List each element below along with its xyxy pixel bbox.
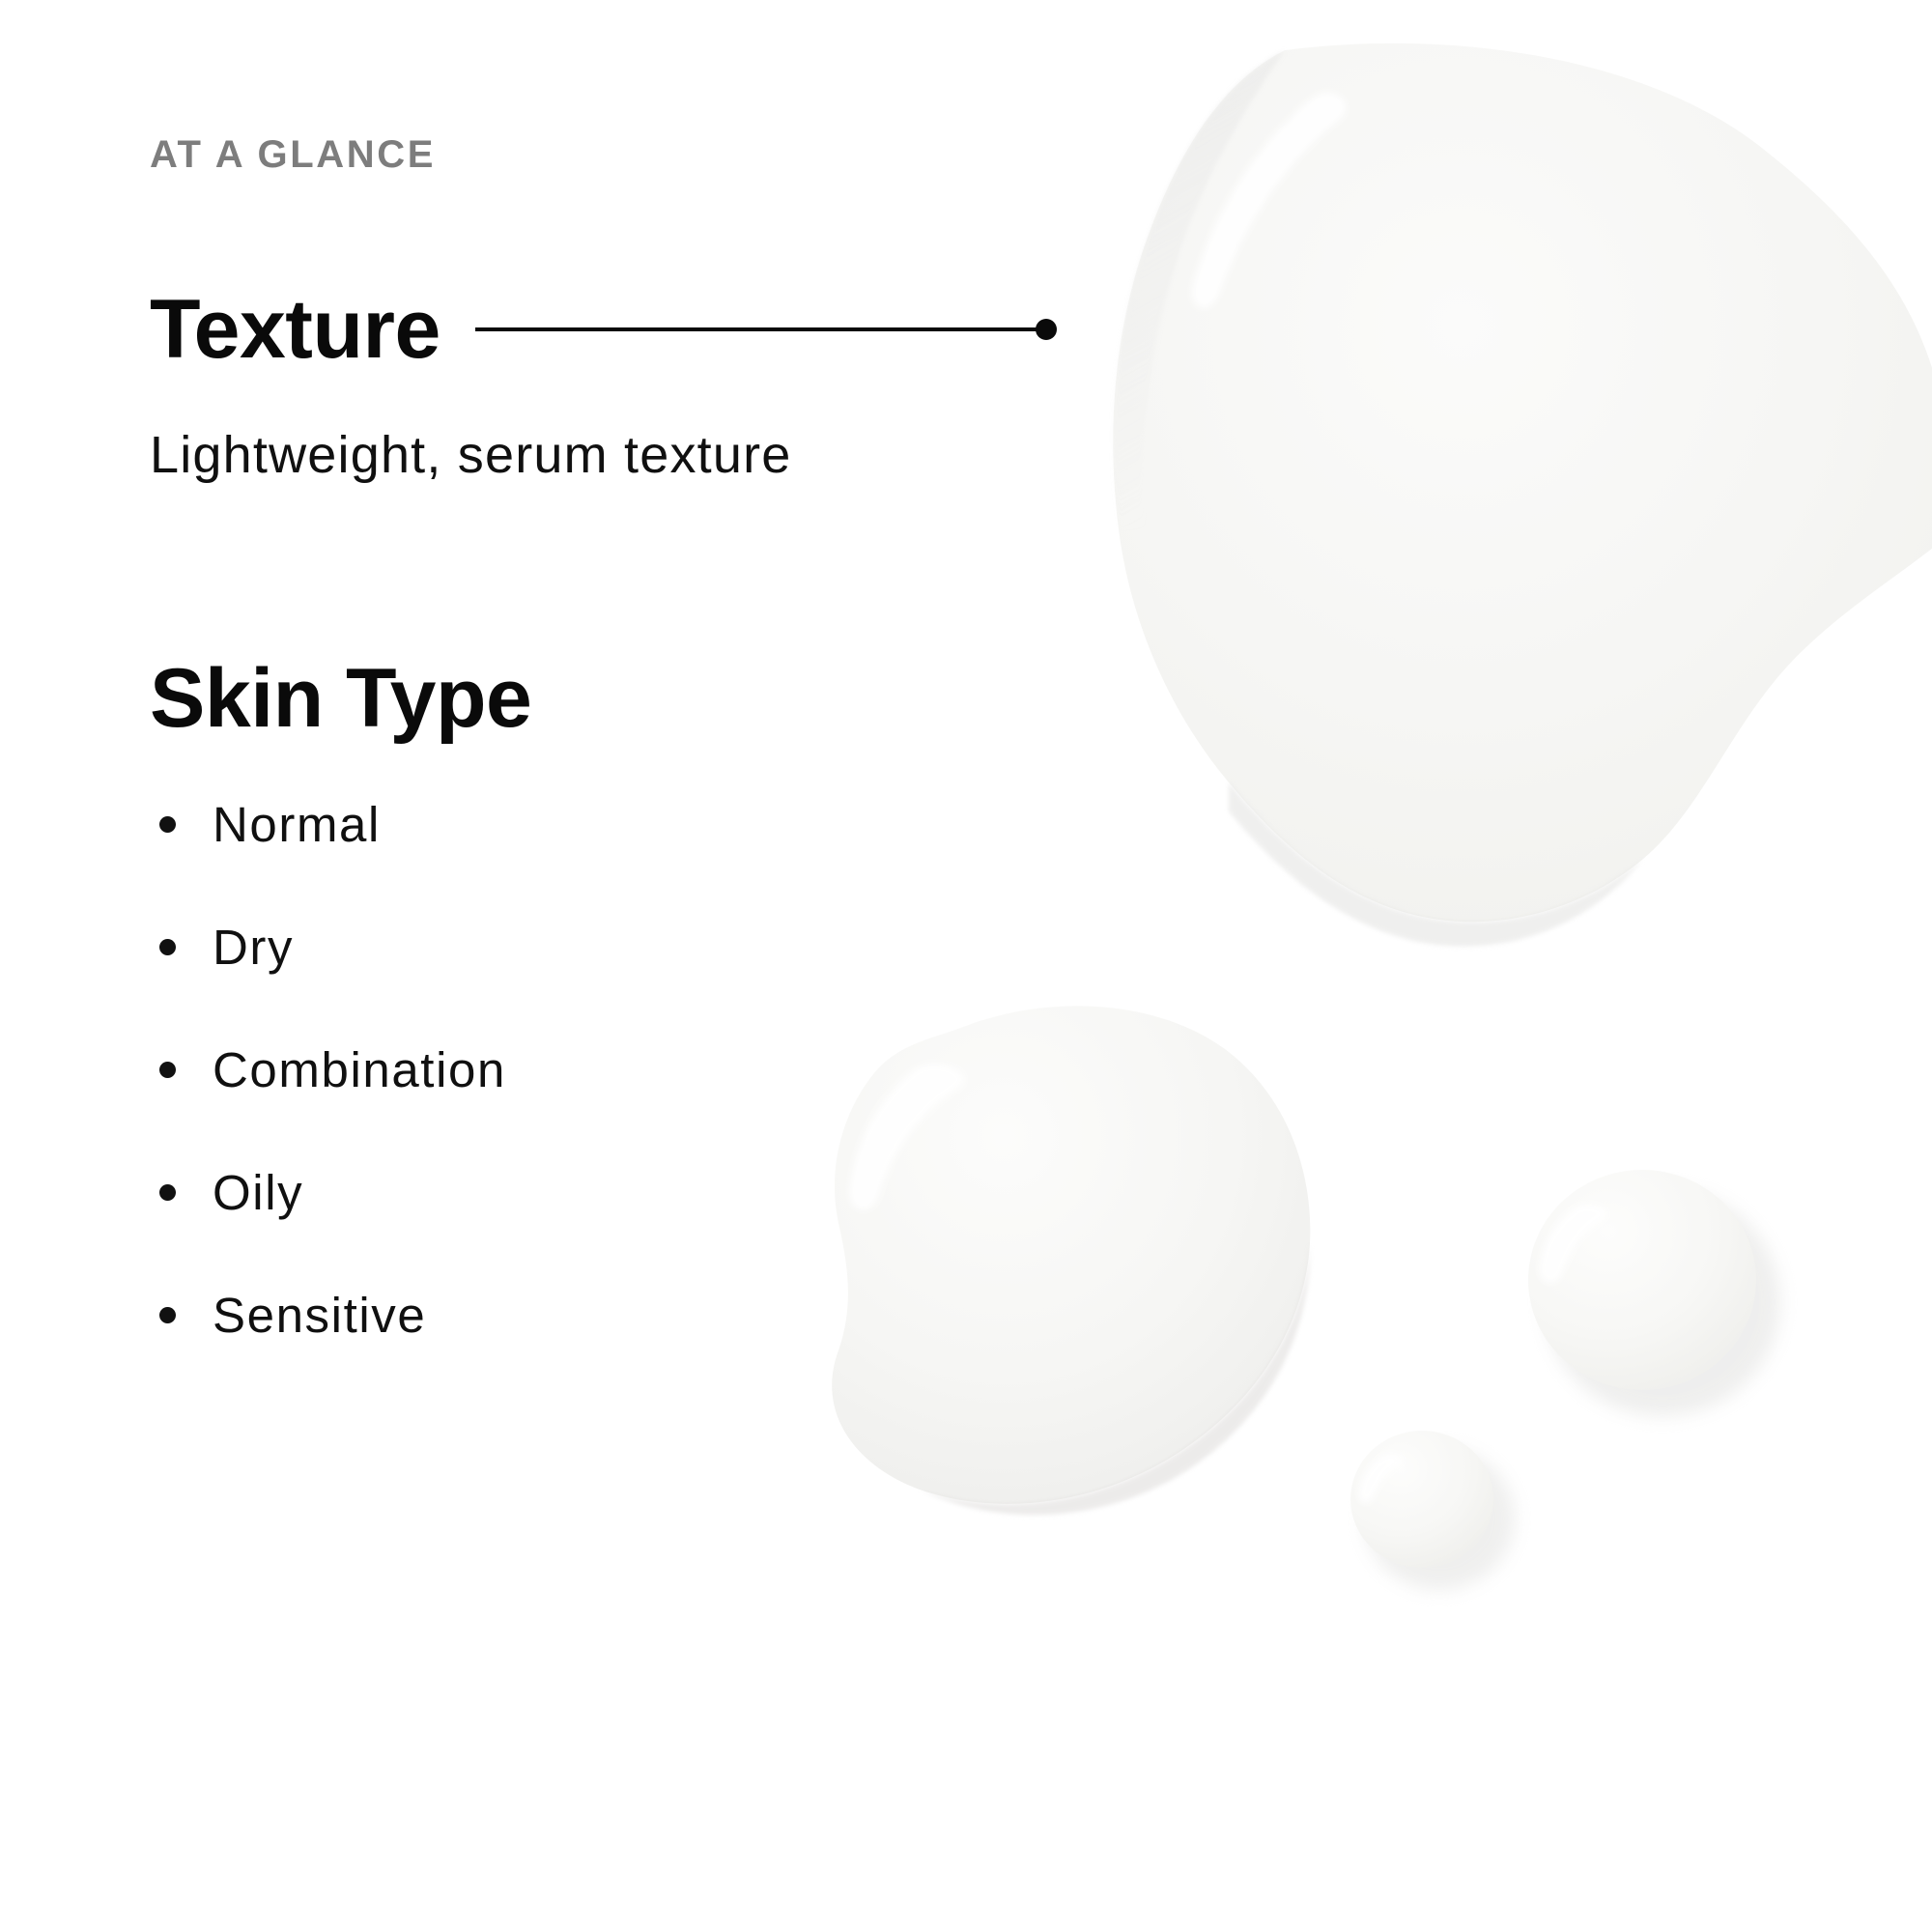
connector-line [475, 327, 1037, 331]
list-item-label: Normal [213, 800, 381, 849]
list-item-label: Oily [213, 1168, 303, 1217]
skin-type-list: Normal Dry Combination Oily Sensitive [150, 800, 1116, 1340]
texture-description: Lightweight, serum texture [150, 425, 1116, 485]
small-droplet-highlight [1359, 1454, 1403, 1503]
texture-heading: Texture [150, 288, 440, 371]
medium-droplet [1528, 1170, 1780, 1416]
skin-type-section: Skin Type Normal Dry Combination Oily [150, 657, 1116, 1340]
list-item: Dry [150, 923, 1116, 972]
large-blob-left-shade [1113, 50, 1285, 529]
infographic-canvas: AT A GLANCE Texture Lightweight, serum t… [0, 0, 1932, 1932]
large-blob-body [1113, 43, 1932, 922]
list-item: Sensitive [150, 1291, 1116, 1340]
list-item-label: Combination [213, 1045, 506, 1094]
list-item-label: Sensitive [213, 1291, 426, 1340]
small-droplet [1350, 1431, 1515, 1590]
small-droplet-shadow [1364, 1447, 1515, 1590]
bullet-dot-icon [159, 1062, 176, 1078]
texture-heading-row: Texture [150, 288, 1116, 371]
list-item: Oily [150, 1168, 1116, 1217]
list-item: Combination [150, 1045, 1116, 1094]
medium-droplet-highlight [1540, 1205, 1607, 1283]
list-item: Normal [150, 800, 1116, 849]
medium-droplet-body [1528, 1170, 1756, 1390]
large-blob-bottom-shadow [1229, 782, 1642, 947]
small-droplet-body [1350, 1431, 1493, 1568]
texture-section: Texture Lightweight, serum texture [150, 288, 1116, 485]
large-cream-blob [1113, 43, 1932, 947]
bullet-dot-icon [159, 1307, 176, 1323]
bullet-dot-icon [159, 1184, 176, 1201]
connector-line-icon [475, 319, 1116, 340]
list-item-label: Dry [213, 923, 294, 972]
large-blob-highlight [1192, 93, 1346, 308]
medium-droplet-shadow [1545, 1188, 1780, 1416]
bullet-dot-icon [159, 939, 176, 955]
skin-type-heading: Skin Type [150, 657, 1116, 740]
bullet-dot-icon [159, 816, 176, 833]
eyebrow-label: AT A GLANCE [150, 135, 1116, 174]
text-column: AT A GLANCE Texture Lightweight, serum t… [150, 135, 1116, 1340]
connector-dot-icon [1036, 319, 1057, 340]
